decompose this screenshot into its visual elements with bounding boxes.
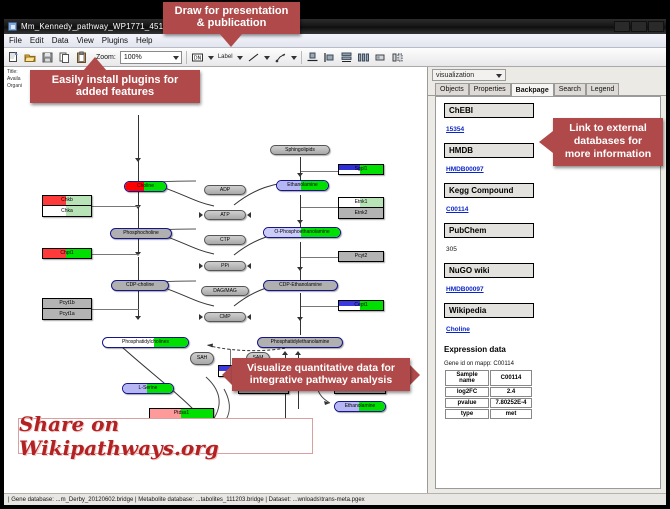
- section-heading-hmdb: HMDB: [444, 143, 534, 158]
- menu-bar: File Edit Data View Plugins Help: [4, 34, 666, 48]
- node-cdp-ethanolamine[interactable]: CDP-Ethanolamine: [263, 280, 338, 291]
- cell-key: log2FC: [445, 387, 489, 397]
- toolbar-separator: [301, 51, 302, 64]
- node-label: Pcyt1b: [59, 301, 74, 306]
- gene-pcyt1a[interactable]: Pcyt1a: [42, 309, 92, 320]
- node-label: Sgpl1: [355, 167, 368, 172]
- node-phosphatidylcholines[interactable]: Phosphatidylcholines: [102, 337, 189, 348]
- visualization-row: visualization: [428, 67, 666, 83]
- node-label: ADP: [220, 188, 230, 193]
- node-ctp[interactable]: CTP: [204, 235, 246, 245]
- node-label: DAG/MAG: [213, 289, 237, 294]
- menu-edit[interactable]: Edit: [30, 36, 44, 45]
- value-pubchem: 305: [446, 246, 457, 253]
- cell-value: 2.4: [490, 387, 532, 397]
- minimize-button[interactable]: [614, 21, 630, 32]
- callout-visualize-arrow-right: [410, 365, 420, 385]
- callout-link-line2: databases for: [553, 135, 663, 148]
- label-tool-label[interactable]: Label: [218, 54, 233, 60]
- node-label: Chkb: [61, 198, 73, 203]
- visualization-combo[interactable]: visualization: [432, 69, 506, 81]
- callout-visualize-line2: integrative pathway analysis: [232, 374, 410, 386]
- node-label: Etnk1: [355, 200, 368, 205]
- node-label: CTP: [220, 238, 230, 243]
- link-nugo[interactable]: HMDB00097: [446, 286, 484, 293]
- table-row: log2FC 2.4: [445, 387, 532, 397]
- table-row: type met: [445, 409, 532, 419]
- menu-file[interactable]: File: [9, 36, 22, 45]
- meta-organism: Organi: [7, 83, 22, 90]
- tab-properties[interactable]: Properties: [469, 83, 511, 95]
- node-label: L-Serine: [139, 386, 158, 391]
- align-left-icon[interactable]: [323, 51, 336, 64]
- arrow-right: [199, 263, 203, 269]
- menu-view[interactable]: View: [77, 36, 94, 45]
- line-tool-icon[interactable]: [247, 51, 260, 64]
- arrow-down: [297, 220, 303, 224]
- gene-chpt1[interactable]: Chpt1: [42, 248, 92, 259]
- node-o-phosphoethanolamine[interactable]: O-Phosphoethanolamine: [263, 227, 341, 238]
- callout-visualize-arrow-left: [222, 365, 232, 385]
- cell-value: 7.80252E-4: [490, 398, 532, 408]
- node-ppi[interactable]: PPi: [204, 261, 246, 271]
- cell-key: Sample name: [445, 370, 489, 386]
- meta-title: Title:: [7, 69, 22, 76]
- node-cdp-choline[interactable]: CDP-choline: [111, 280, 169, 291]
- chevron-down-icon: [496, 74, 502, 78]
- node-ethanolamine-top[interactable]: Ethanolamine: [276, 180, 329, 191]
- gene-pcyt1b[interactable]: Pcyt1b: [42, 298, 92, 309]
- interaction-dropdown-arrow[interactable]: [291, 51, 297, 64]
- gene-chkb[interactable]: Chkb: [42, 195, 92, 206]
- gene-group-chk[interactable]: Chkb Chka: [42, 195, 92, 217]
- label-dropdown-arrow[interactable]: [237, 51, 243, 64]
- arrow-down: [297, 173, 303, 177]
- datanode-dropdown-arrow[interactable]: [208, 51, 214, 64]
- node-adp[interactable]: ADP: [204, 185, 246, 195]
- arrow-left: [247, 212, 251, 218]
- node-ethanolamine-right[interactable]: Ethanolamine: [334, 401, 386, 412]
- link-wikipedia[interactable]: Choline: [446, 326, 470, 333]
- node-label: Cept1: [354, 303, 367, 308]
- node-label: Phosphatidylethanolamine: [271, 340, 330, 345]
- node-label: O-Phosphoethanolamine: [274, 230, 329, 235]
- cell-value: C00114: [490, 370, 532, 386]
- section-heading-chebi: ChEBI: [444, 103, 534, 118]
- expression-table: Sample name C00114 log2FC 2.4 pvalue 7.8…: [444, 369, 533, 420]
- save-icon[interactable]: [41, 51, 54, 64]
- edge-chpt1-stub: [92, 254, 139, 255]
- callout-link-line3: more information: [553, 148, 663, 161]
- callout-link-arrow: [539, 131, 553, 153]
- callout-draw-line1: Draw for presentation: [163, 5, 300, 17]
- node-label: Pcyt2: [355, 254, 368, 259]
- callout-draw-arrow: [219, 33, 243, 47]
- app-icon: [8, 22, 17, 31]
- open-folder-icon[interactable]: [24, 51, 37, 64]
- node-label: Ethanolamine: [345, 404, 376, 409]
- share-banner: Share on Wikipathways.org: [18, 418, 313, 454]
- status-text: | Gene database: ...m_Derby_20120602.bri…: [8, 497, 365, 503]
- node-cmp[interactable]: CMP: [204, 312, 246, 322]
- gene-group-pcyt1[interactable]: Pcyt1b Pcyt1a: [42, 298, 92, 320]
- stack-vertical-icon[interactable]: [340, 51, 353, 64]
- tab-strip: Objects Properties Backpage Search Legen…: [428, 83, 666, 96]
- node-label: CDP-choline: [126, 283, 154, 288]
- node-label: Phosphocholine: [123, 231, 159, 236]
- callout-plugins: Easily install plugins for added feature…: [30, 70, 200, 103]
- gene-pcyt2[interactable]: Pcyt2: [338, 251, 384, 262]
- callout-plugins-line2: added features: [30, 86, 200, 98]
- node-sah[interactable]: SAH: [190, 352, 214, 365]
- node-label: Etnk2: [355, 211, 368, 216]
- svg-text:DN: DN: [194, 55, 202, 61]
- cell-key: pvalue: [445, 398, 489, 408]
- align-top-icon[interactable]: [306, 51, 319, 64]
- arrow-left: [247, 314, 251, 320]
- node-label: Pcyt1a: [59, 312, 74, 317]
- cell-key: type: [445, 409, 489, 419]
- node-phosphatidylethanolamine[interactable]: Phosphatidylethanolamine: [257, 337, 343, 348]
- edge-sgpl1-stub: [301, 171, 341, 172]
- node-label: PPi: [221, 264, 229, 269]
- callout-link: Link to external databases for more info…: [553, 118, 663, 166]
- group-icon[interactable]: [374, 51, 387, 64]
- interaction-tool-icon[interactable]: [274, 51, 287, 64]
- arrow-left: [247, 263, 251, 269]
- section-heading-wikipedia: Wikipedia: [444, 303, 534, 318]
- node-label: Phosphatidylcholines: [122, 340, 169, 345]
- node-phosphocholine[interactable]: Phosphocholine: [110, 228, 172, 239]
- expression-data-title: Expression data: [444, 345, 652, 354]
- chevron-down-icon: [173, 56, 179, 60]
- zoom-combo[interactable]: 100%: [120, 51, 182, 64]
- callout-visualize-line1: Visualize quantitative data for: [232, 362, 410, 374]
- ungroup-icon[interactable]: [391, 51, 404, 64]
- maximize-button[interactable]: [631, 21, 647, 32]
- node-l-serine-left[interactable]: L-Serine: [122, 383, 174, 394]
- arrow-up: [295, 351, 301, 355]
- node-label: Sphingolipids: [285, 148, 315, 153]
- node-label: CDP-Ethanolamine: [279, 283, 322, 288]
- edge-cept1-stub: [301, 306, 338, 307]
- callout-plugins-line1: Easily install plugins for: [30, 74, 200, 86]
- tab-legend[interactable]: Legend: [586, 83, 619, 95]
- gene-sgpl1[interactable]: Sgpl1: [338, 164, 384, 175]
- distribute-horizontal-icon[interactable]: [357, 51, 370, 64]
- node-atp[interactable]: ATP: [204, 210, 246, 220]
- edge-chk-stub: [92, 206, 139, 207]
- tab-objects[interactable]: Objects: [435, 83, 469, 95]
- title-bar: Mm_Kennedy_pathway_WP1771_45176.gpml: [4, 19, 666, 34]
- tab-search[interactable]: Search: [554, 83, 586, 95]
- menu-plugins[interactable]: Plugins: [102, 36, 128, 45]
- cell-value: met: [490, 409, 532, 419]
- new-file-icon[interactable]: [7, 51, 20, 64]
- arrow-right: [199, 212, 203, 218]
- callout-draw-line2: & publication: [163, 17, 300, 29]
- arrow-down: [135, 158, 141, 162]
- node-choline-top[interactable]: Choline: [124, 181, 167, 192]
- meta-availability: Availa: [7, 76, 22, 83]
- node-label: Choline: [137, 184, 154, 189]
- node-label: CMP: [219, 315, 230, 320]
- close-button[interactable]: [648, 21, 664, 32]
- gene-chka[interactable]: Chka: [42, 206, 92, 217]
- node-dag-mag[interactable]: DAG/MAG: [201, 286, 249, 296]
- arrow-down: [297, 267, 303, 271]
- callout-draw: Draw for presentation & publication: [163, 2, 300, 34]
- copy-icon[interactable]: [58, 51, 71, 64]
- section-heading-nugo: NuGO wiki: [444, 263, 534, 278]
- status-bar: | Gene database: ...m_Derby_20120602.bri…: [4, 493, 666, 505]
- section-heading-kegg: Kegg Compound: [444, 183, 534, 198]
- node-label: SAH: [197, 356, 207, 361]
- link-hmdb[interactable]: HMDB00097: [446, 166, 484, 173]
- edge-pcyt2-stub: [301, 257, 338, 258]
- gene-cept1[interactable]: Cept1: [338, 300, 384, 311]
- line-dropdown-arrow[interactable]: [264, 51, 270, 64]
- toolbar-separator: [186, 51, 187, 64]
- canvas-metadata: Title: Availa Organi: [7, 69, 22, 90]
- callout-link-line1: Link to external: [553, 122, 663, 135]
- section-heading-pubchem: PubChem: [444, 223, 534, 238]
- window-controls[interactable]: [614, 21, 666, 32]
- node-sphingolipids[interactable]: Sphingolipids: [270, 145, 330, 155]
- link-kegg[interactable]: C00114: [446, 206, 468, 213]
- arrow-up: [282, 351, 288, 355]
- gene-id-line: Gene id on mapp: C00114: [444, 361, 652, 367]
- gene-group-etnk[interactable]: Etnk1 Etnk2: [338, 197, 384, 219]
- node-label: Chpt1: [60, 251, 73, 256]
- visualization-value: visualization: [436, 72, 474, 79]
- node-label: Chka: [61, 209, 73, 214]
- datanode-icon[interactable]: DN: [191, 51, 204, 64]
- callout-visualize: Visualize quantitative data for integrat…: [232, 358, 410, 391]
- menu-data[interactable]: Data: [52, 36, 69, 45]
- gene-etnk1[interactable]: Etnk1: [338, 197, 384, 208]
- tab-backpage[interactable]: Backpage: [511, 83, 554, 96]
- node-label: ATP: [220, 213, 229, 218]
- table-row: Sample name C00114: [445, 370, 532, 386]
- gene-etnk2[interactable]: Etnk2: [338, 208, 384, 219]
- share-banner-text: Share on Wikipathways.org: [19, 412, 312, 460]
- menu-help[interactable]: Help: [136, 36, 152, 45]
- callout-plugins-arrow: [83, 57, 107, 71]
- table-row: pvalue 7.80252E-4: [445, 398, 532, 408]
- zoom-value: 100%: [124, 54, 142, 61]
- link-chebi[interactable]: 15354: [446, 126, 464, 133]
- edge-pcyt1-stub: [92, 309, 139, 310]
- arrow-right: [199, 314, 203, 320]
- edge-etnk-stub: [301, 207, 338, 208]
- node-label: Ethanolamine: [287, 183, 318, 188]
